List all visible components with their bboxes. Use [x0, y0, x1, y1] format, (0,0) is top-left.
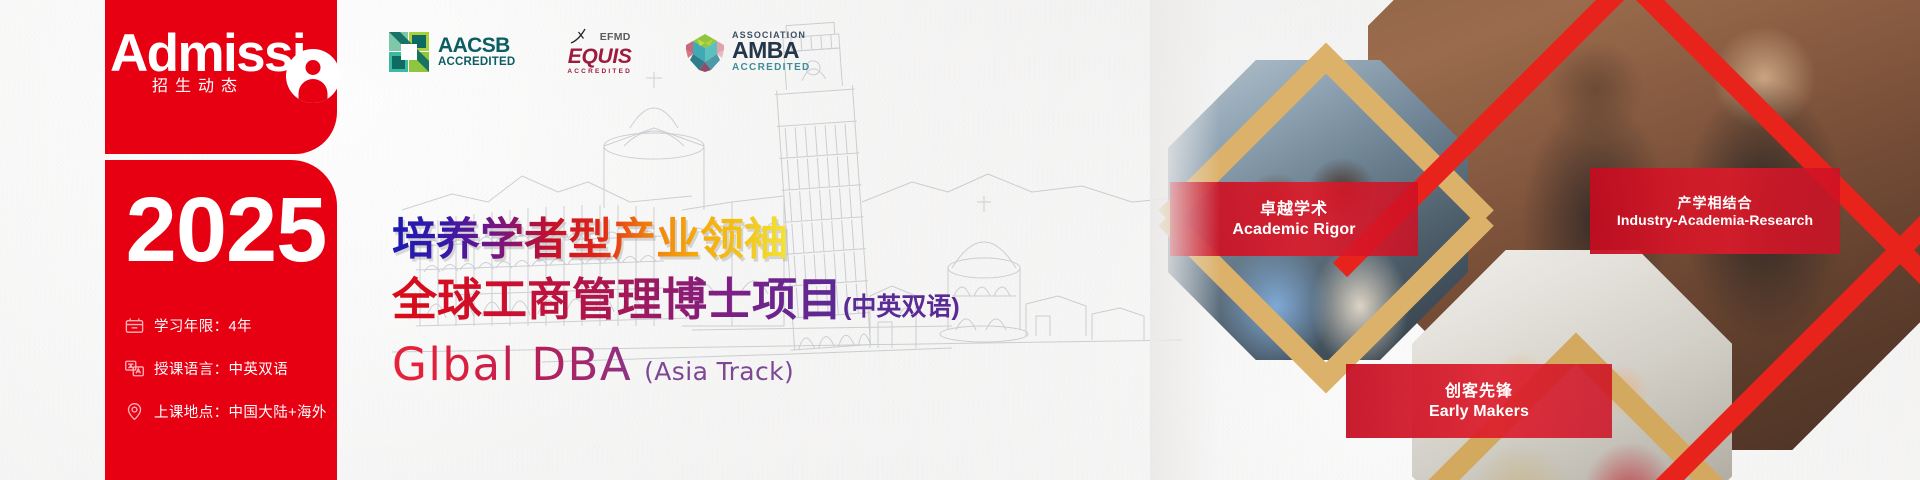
info-row-location: 上课地点：中国大陆+海外 — [124, 396, 346, 427]
badge-industry-academia-research: 产学相结合 Industry-Academia-Research — [1590, 168, 1840, 254]
program-title-en-note: (Asia Track) — [644, 357, 794, 386]
badge-early-makers-cn: 创客先锋 — [1354, 381, 1604, 402]
headline-block: 培养学者型产业领袖 全球工商管理博士项目 (中英双语) Glbal DBA (A… — [392, 214, 1152, 391]
amba-accreditation-logo: ASSOCIATION AMBA ACCREDITED — [684, 31, 811, 73]
badge-industry-academia-research-en: Industry-Academia-Research — [1598, 212, 1832, 229]
calendar-icon — [124, 315, 145, 336]
amba-status: ACCREDITED — [732, 63, 811, 73]
program-title-cn-row: 全球工商管理博士项目 (中英双语) — [392, 273, 960, 334]
equis-accreditation-logo: EFMD EQUIS ACCREDITED — [567, 28, 632, 76]
badge-early-makers: 创客先锋 Early Makers — [1346, 364, 1612, 438]
photo-collage: 卓越学术 Academic Rigor 产学相结合 Industry-Acade… — [1150, 0, 1920, 480]
badge-early-makers-en: Early Makers — [1354, 402, 1604, 422]
amba-name: AMBA — [732, 39, 811, 62]
aacsb-logo-icon — [388, 31, 430, 73]
efmd-swoosh-icon — [569, 28, 595, 45]
year-label: 2025 — [108, 182, 344, 278]
location-pin-icon — [124, 401, 145, 422]
info-row-language: 授课语言：中英双语 — [124, 353, 346, 384]
amba-logo-icon — [684, 32, 726, 72]
program-title-cn: 全球工商管理博士项目 — [392, 273, 842, 327]
efmd-label: EFMD — [600, 32, 631, 43]
tagline-heading: 培养学者型产业领袖 — [392, 214, 788, 266]
admission-logo: Admissi 招生动态 — [110, 26, 346, 112]
aacsb-accreditation-logo: AACSB ACCREDITED — [388, 31, 515, 73]
aacsb-name: AACSB — [438, 35, 515, 56]
admission-banner: Admissi 招生动态 2025 学习年限：4年 — [0, 0, 1920, 480]
badge-academic-rigor: 卓越学术 Academic Rigor — [1170, 182, 1418, 256]
language-icon — [124, 358, 145, 379]
program-title-en-row: Glbal DBA (Asia Track) — [392, 338, 794, 391]
accreditation-logo-row: AACSB ACCREDITED EFMD EQUIS ACCREDITED — [388, 26, 811, 78]
aacsb-status: ACCREDITED — [438, 57, 515, 69]
info-label-location: 上课地点：中国大陆+海外 — [154, 401, 327, 422]
equis-name: EQUIS — [567, 46, 632, 67]
program-title-cn-note: (中英双语) — [843, 280, 960, 334]
badge-industry-academia-research-cn: 产学相结合 — [1598, 194, 1832, 212]
left-red-panel: Admissi 招生动态 2025 学习年限：4年 — [0, 0, 360, 480]
badge-academic-rigor-cn: 卓越学术 — [1178, 199, 1410, 220]
info-row-duration: 学习年限：4年 — [124, 310, 346, 341]
program-title-en: Glbal DBA — [392, 338, 632, 391]
equis-status: ACCREDITED — [567, 69, 632, 76]
badge-academic-rigor-en: Academic Rigor — [1178, 220, 1410, 240]
info-label-duration: 学习年限：4年 — [154, 315, 252, 336]
person-in-circle-icon — [286, 49, 340, 103]
info-label-language: 授课语言：中英双语 — [154, 358, 288, 379]
admission-chinese-label: 招生动态 — [152, 72, 244, 96]
program-info-list: 学习年限：4年 授课语言：中英双语 — [124, 310, 346, 439]
